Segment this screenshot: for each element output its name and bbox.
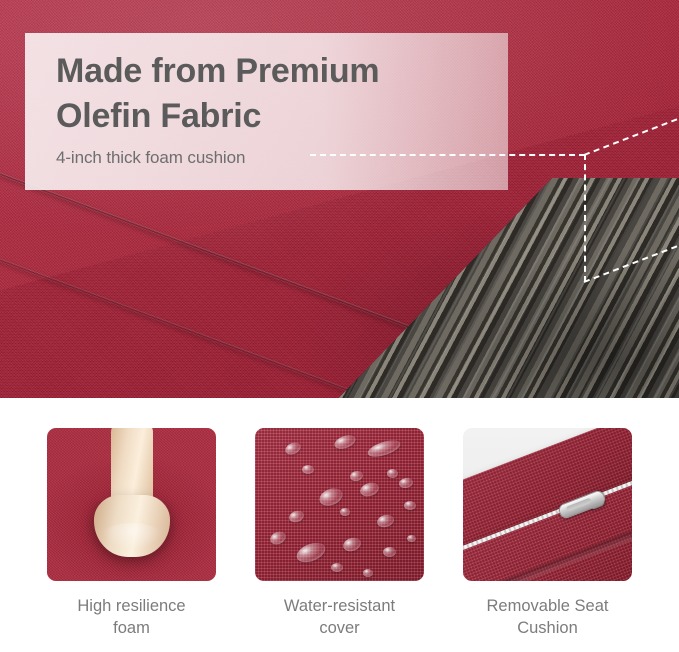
water-droplet: [383, 547, 396, 557]
water-droplet: [398, 477, 414, 489]
measurement-line-horizontal: [310, 154, 585, 156]
headline-text: Made from Premium Olefin Fabric: [56, 49, 508, 139]
water-droplet: [407, 535, 416, 542]
feature-item: Removable Seat Cushion: [463, 428, 632, 652]
feature-item: High resilience foam: [47, 428, 216, 652]
hero-image: Made from Premium Olefin Fabric 4-inch t…: [0, 0, 679, 398]
knuckle-highlight: [102, 523, 162, 549]
water-droplet: [317, 485, 345, 509]
water-droplet: [331, 563, 343, 572]
feature-row: High resilience foam Water-resistant cov…: [0, 398, 679, 652]
water-droplet: [365, 437, 401, 460]
headline-banner: Made from Premium Olefin Fabric 4-inch t…: [25, 33, 508, 190]
water-droplet: [363, 569, 373, 577]
water-droplet: [302, 465, 314, 474]
water-droplet: [340, 508, 350, 516]
water-droplets-on-fabric-photo: [255, 428, 424, 581]
water-droplet: [375, 513, 395, 529]
water-droplet: [387, 469, 398, 478]
zipper-closeup-photo: [463, 428, 632, 581]
water-droplet: [341, 536, 362, 554]
water-droplet: [284, 440, 303, 457]
feature-caption: Water-resistant cover: [284, 595, 395, 639]
subheadline-text: 4-inch thick foam cushion: [56, 148, 508, 168]
feature-caption: Removable Seat Cushion: [487, 595, 609, 639]
water-droplet: [349, 469, 364, 482]
fist-pressing-cushion-photo: [47, 428, 216, 581]
water-droplet: [333, 432, 358, 451]
water-droplet: [358, 480, 380, 498]
water-droplet: [268, 529, 288, 547]
feature-item: Water-resistant cover: [255, 428, 424, 652]
measurement-line-vertical: [584, 154, 586, 282]
feature-caption: High resilience foam: [77, 595, 185, 639]
water-droplet: [287, 508, 305, 523]
water-droplet: [293, 539, 327, 566]
water-droplet: [404, 501, 416, 510]
